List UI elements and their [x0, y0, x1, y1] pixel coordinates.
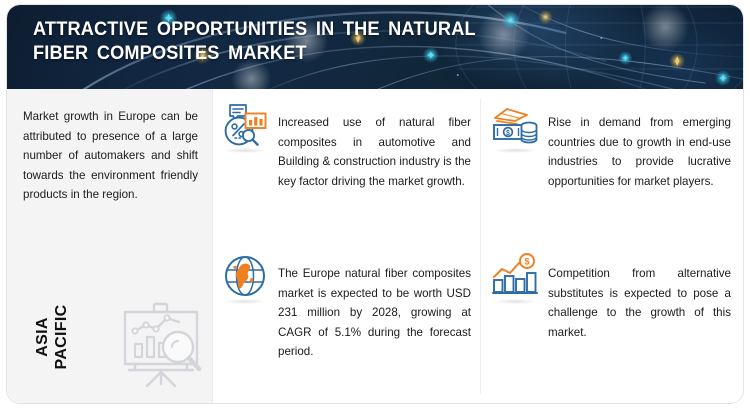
highlight-card-rise-in-demand: $: [491, 101, 731, 191]
page-title: ATTRACTIVE OPPORTUNITIES IN THE NATURAL …: [33, 18, 476, 65]
region-label-line-1: ASIA: [33, 305, 52, 370]
infographic-root: ATTRACTIVE OPPORTUNITIES IN THE NATURAL …: [0, 0, 750, 409]
region-label-line-2: PACIFIC: [52, 305, 71, 370]
region-label: ASIA PACIFIC: [13, 282, 91, 392]
highlight-text: Increased use of natural fiber composite…: [278, 101, 471, 191]
body-area: Market growth in Europe can be attribute…: [7, 89, 743, 404]
pie-chart-percent-magnifier-bar-chart-icon: [221, 101, 269, 149]
column-divider: [480, 99, 481, 394]
highlight-card-europe-market-value: The Europe natural fiber composites mark…: [221, 252, 471, 362]
money-banknote-coins-icon: $: [491, 101, 539, 149]
left-summary-panel: Market growth in Europe can be attribute…: [7, 89, 213, 404]
highlight-text: The Europe natural fiber composites mark…: [278, 252, 471, 362]
highlight-card-competition: $ Competition from alternative substitut…: [491, 252, 731, 342]
highlights-grid: Increased use of natural fiber composite…: [213, 89, 743, 404]
highlight-text: Rise in demand from emerging countries d…: [548, 101, 731, 191]
bar-chart-growth-dollar-coin-icon: $: [491, 252, 539, 300]
svg-text:$: $: [506, 130, 510, 137]
infographic-card: ATTRACTIVE OPPORTUNITIES IN THE NATURAL …: [6, 4, 744, 404]
header-banner: ATTRACTIVE OPPORTUNITIES IN THE NATURAL …: [7, 5, 743, 89]
highlight-card-increased-use: Increased use of natural fiber composite…: [221, 101, 471, 191]
presentation-chart-magnifier-icon: [115, 298, 207, 390]
globe-icon: [221, 252, 269, 300]
highlight-text: Competition from alternative substitutes…: [548, 252, 731, 342]
left-panel-text: Market growth in Europe can be attribute…: [23, 107, 198, 205]
svg-text:$: $: [524, 256, 529, 266]
